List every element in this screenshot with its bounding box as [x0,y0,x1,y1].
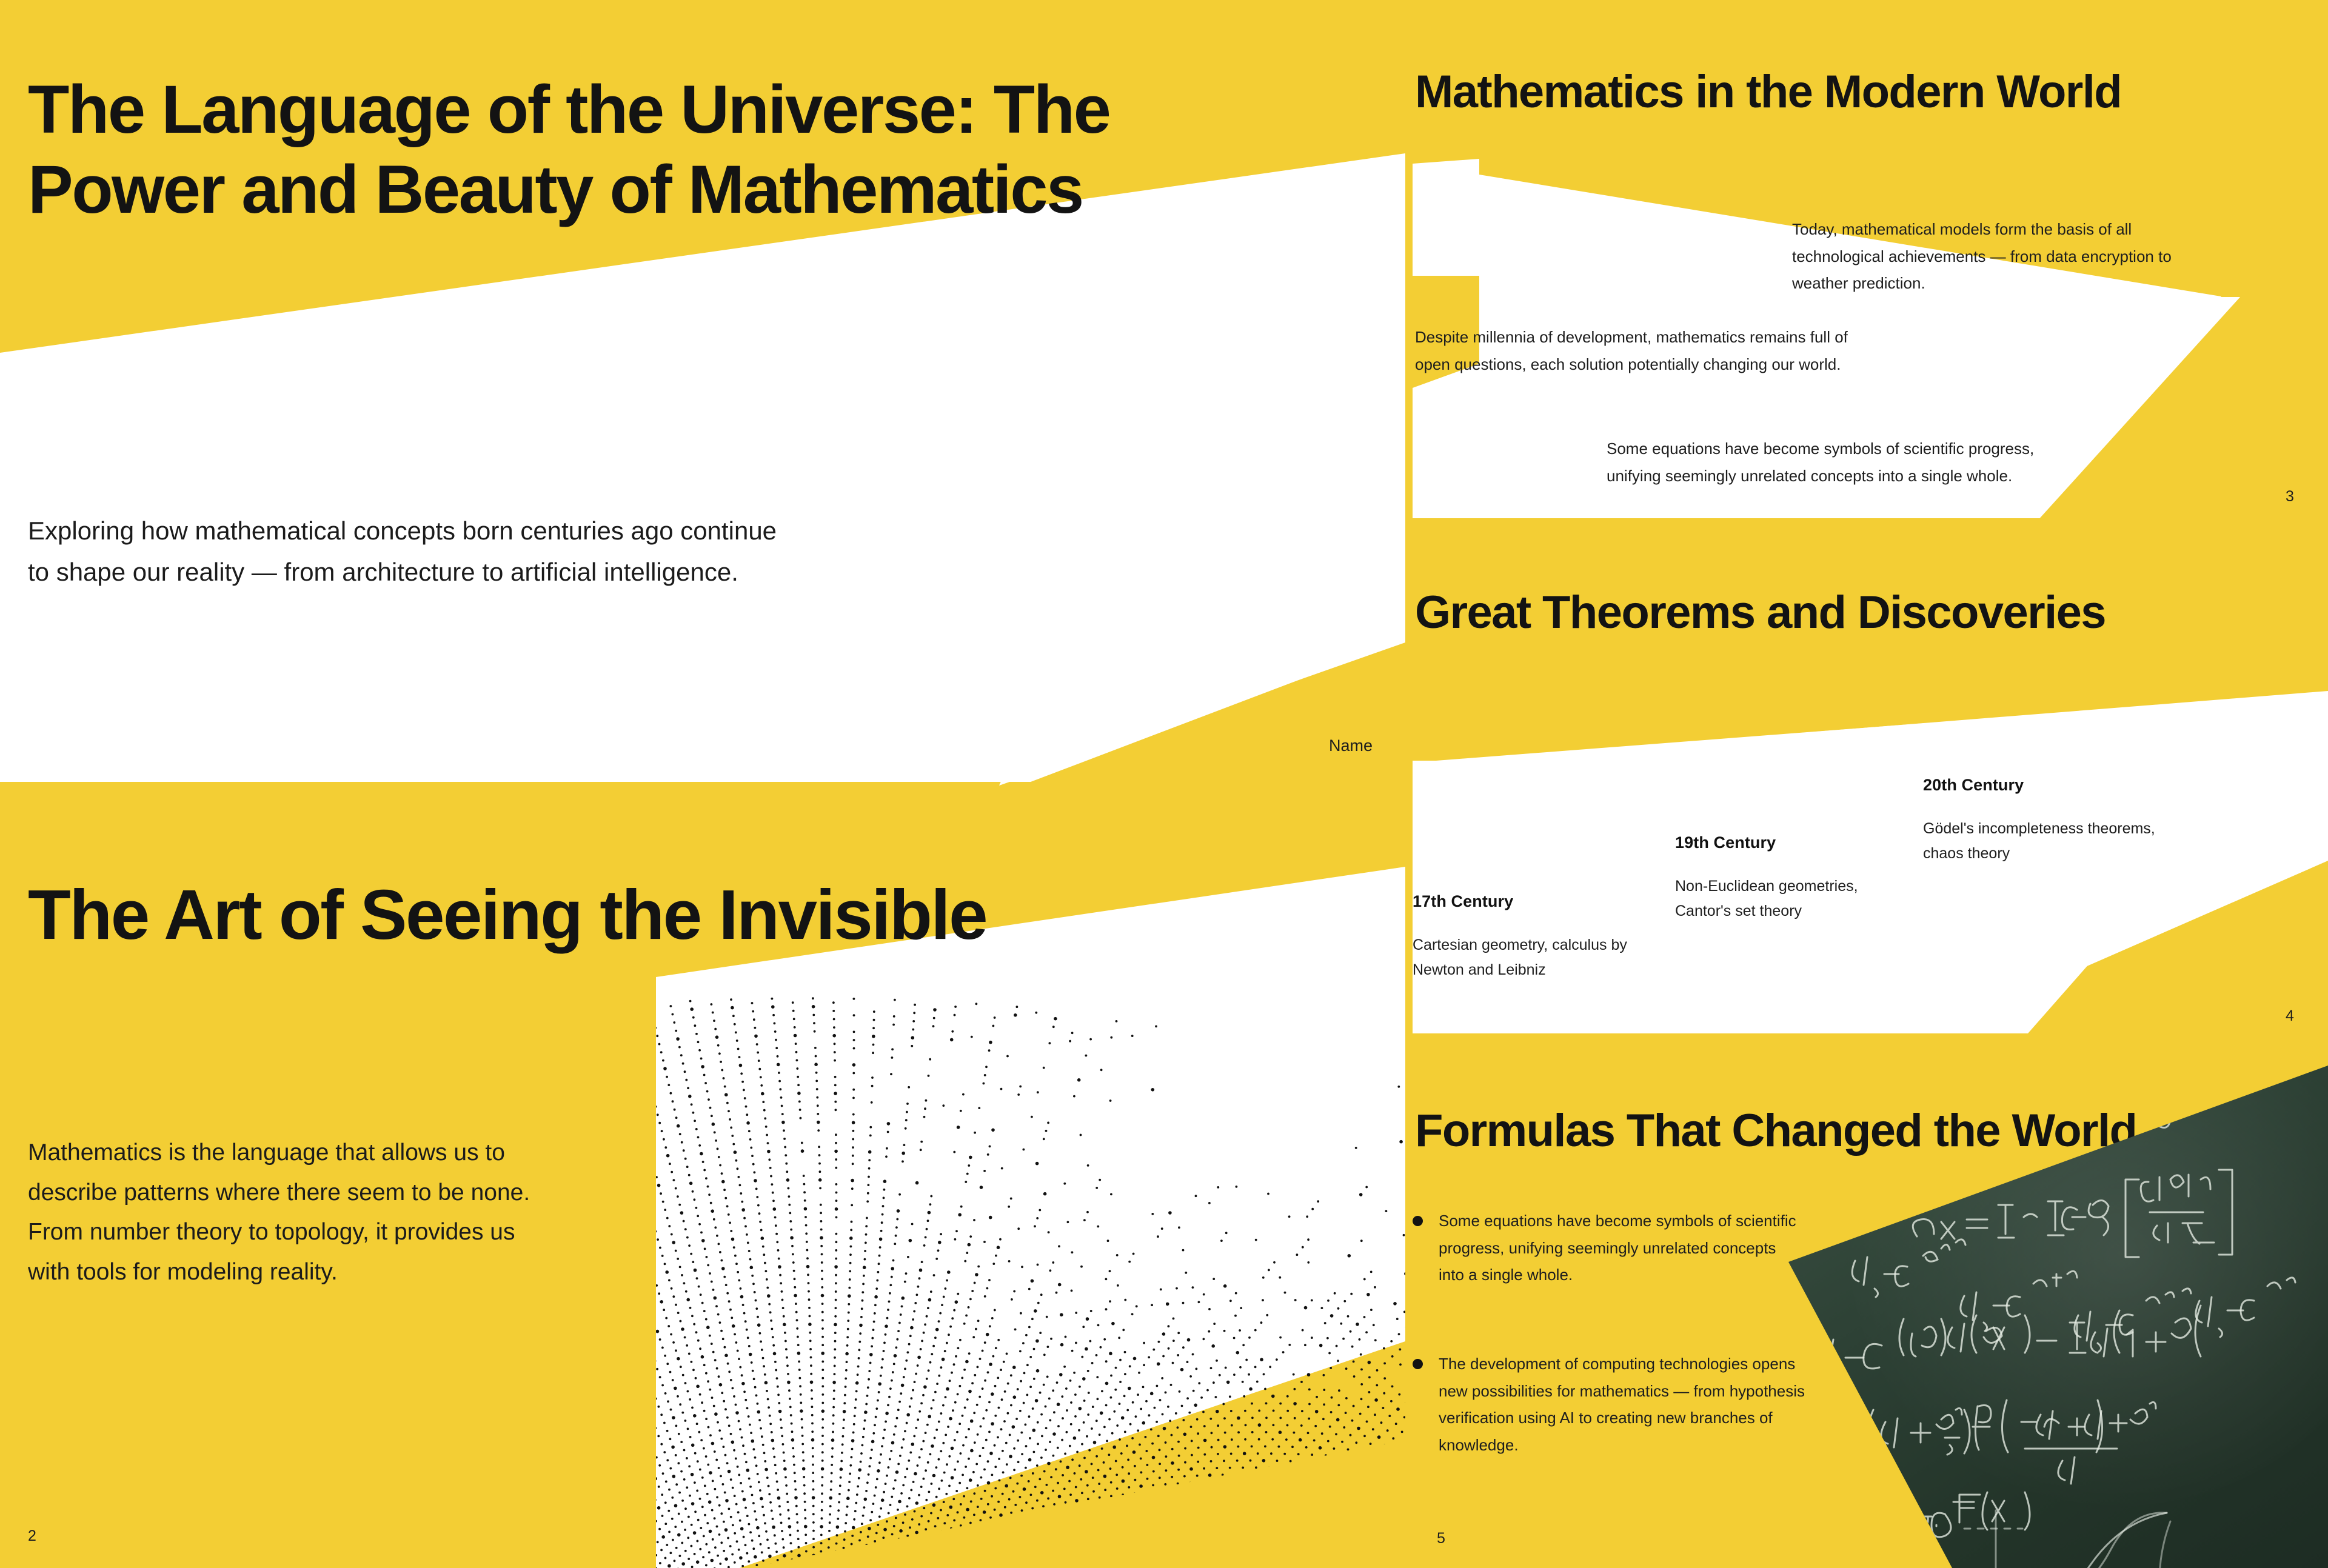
name-label: Name [1329,736,1373,755]
art-title: The Art of Seeing the Invisible [28,873,1331,956]
timeline-detail-text: Cartesian geometry, calculus by Newton a… [1413,933,1673,982]
cover-lead: Exploring how mathematical concepts born… [28,510,780,593]
modern-world-paragraph-1: Today, mathematical models form the basi… [1792,216,2192,297]
slide-deck: The Language of the Universe: The Power … [0,0,2328,1568]
timeline-item-17th-century: 17th Century Cartesian geometry, calculu… [1413,892,1673,982]
modern-world-paragraph-2: Despite millennia of development, mathem… [1415,324,1864,378]
timeline-period-label: 20th Century [1923,776,2166,795]
timeline-detail-text: Gödel's incompleteness theorems, chaos t… [1923,816,2166,866]
page-number-3: 3 [2286,488,2294,505]
page-number-5: 5 [1437,1530,1445,1547]
modern-world-title: Mathematics in the Modern World [1415,66,2276,118]
page-number-2: 2 [28,1527,36,1545]
formulas-bullet-1: Some equations have become symbols of sc… [1413,1207,1801,1289]
great-theorems-title: Great Theorems and Discoveries [1415,587,2300,638]
timeline-item-19th-century: 19th Century Non-Euclidean geometries, C… [1675,833,1905,923]
timeline-period-label: 19th Century [1675,833,1905,852]
dot-moire-pattern-figure [656,967,1408,1568]
art-lead: Mathematics is the language that allows … [28,1133,549,1292]
modern-world-paragraph-3: Some equations have become symbols of sc… [1607,435,2055,489]
bullet-dot-icon [1413,1359,1423,1369]
timeline-period-label: 17th Century [1413,892,1673,911]
bullet-dot-icon [1413,1216,1423,1226]
cover-title: The Language of the Universe: The Power … [28,70,1168,230]
formulas-bullet-2: The development of computing technologie… [1413,1350,1813,1459]
formulas-bullet-text: Some equations have become symbols of sc… [1439,1207,1801,1289]
timeline-detail-text: Non-Euclidean geometries, Cantor's set t… [1675,874,1905,923]
timeline-item-20th-century: 20th Century Gödel's incompleteness theo… [1923,776,2166,866]
formulas-bullet-text: The development of computing technologie… [1439,1350,1813,1459]
page-number-4: 4 [2286,1007,2294,1025]
